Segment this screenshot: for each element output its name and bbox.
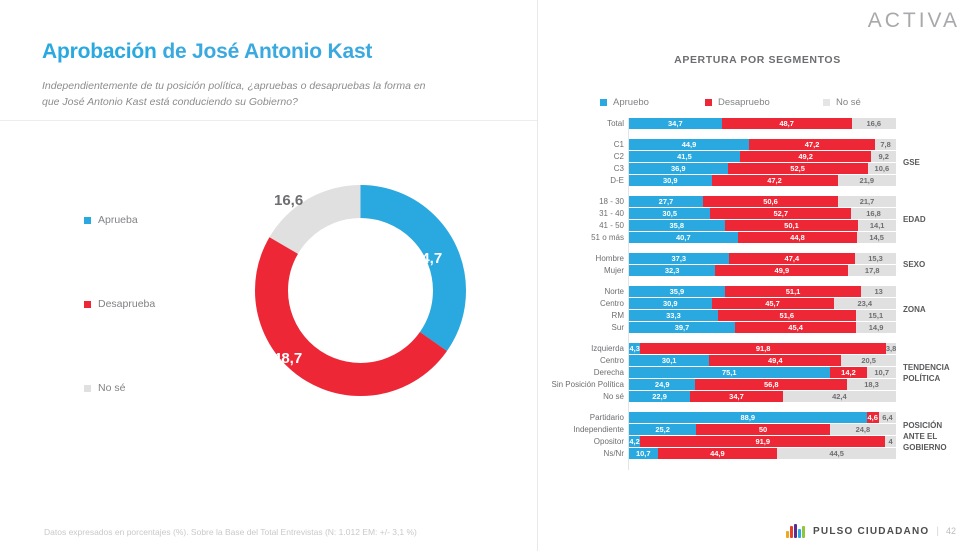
segment-bar-apruebo: 35,9 <box>629 286 725 297</box>
segment-row-label: D-E <box>474 175 624 186</box>
segment-bar-value: 4 <box>885 436 896 447</box>
legend-swatch-aprueba <box>84 217 91 224</box>
segment-row: D-E30,947,221,9 <box>537 175 978 186</box>
segment-bar-desapruebo: 44,8 <box>738 232 858 243</box>
segment-row: Centro30,945,723,4 <box>537 298 978 309</box>
segment-bar-value: 14,5 <box>857 232 896 243</box>
segment-bar-desapruebo: 49,2 <box>740 151 871 162</box>
segment-bar-value: 91,8 <box>640 343 885 354</box>
segment-bar-value: 36,9 <box>629 163 728 174</box>
segment-bar-track: 33,351,615,1 <box>629 310 896 321</box>
donut-value-desaprueba: 48,7 <box>273 350 302 367</box>
segment-bar-value: 50,1 <box>725 220 859 231</box>
segment-row: No sé22,934,742,4 <box>537 391 978 402</box>
segment-bar-value: 24,8 <box>830 424 896 435</box>
segment-bar-apruebo: 30,9 <box>629 298 712 309</box>
segment-row-label: Mujer <box>474 265 624 276</box>
segment-bar-nose: 42,4 <box>783 391 896 402</box>
segment-bar-value: 35,8 <box>629 220 725 231</box>
segment-bar-nose: 14,9 <box>856 322 896 333</box>
legend-item-desapruebo: Desapruebo <box>705 97 823 108</box>
segment-row-label: Hombre <box>474 253 624 264</box>
segment-bar-track: 27,750,621,7 <box>629 196 896 207</box>
segment-bar-track: 30,552,716,8 <box>629 208 896 219</box>
segment-bar-value: 47,2 <box>712 175 838 186</box>
segment-bar-apruebo: 24,9 <box>629 379 695 390</box>
segment-bar-nose: 10,6 <box>868 163 896 174</box>
segment-bar-track: 41,549,29,2 <box>629 151 896 162</box>
segment-bar-value: 6,4 <box>879 412 896 423</box>
segment-bar-track: 37,347,415,3 <box>629 253 896 264</box>
segment-bar-desapruebo: 51,1 <box>725 286 861 297</box>
legend-swatch-apruebo <box>600 99 607 106</box>
segment-bar-nose: 15,3 <box>855 253 896 264</box>
segment-bar-track: 24,956,818,3 <box>629 379 896 390</box>
segment-bar-value: 52,5 <box>728 163 868 174</box>
segment-row: 18 - 3027,750,621,7EDAD <box>537 196 978 207</box>
segment-bar-value: 39,7 <box>629 322 735 333</box>
segment-bar-nose: 24,8 <box>830 424 896 435</box>
segment-bar-track: 10,744,944,5 <box>629 448 896 459</box>
segment-bar-value: 35,9 <box>629 286 725 297</box>
segments-title: APERTURA POR SEGMENTOS <box>537 54 978 66</box>
segment-bar-value: 44,9 <box>629 139 749 150</box>
segment-bar-desapruebo: 45,4 <box>735 322 856 333</box>
segment-row-label: Independiente <box>474 424 624 435</box>
segment-bar-desapruebo: 50,6 <box>703 196 838 207</box>
segment-bar-value: 49,4 <box>709 355 841 366</box>
segment-row-label: C1 <box>474 139 624 150</box>
segment-bar-value: 4,6 <box>867 412 879 423</box>
segment-bar-desapruebo: 56,8 <box>695 379 847 390</box>
pulso-name: PULSO CIUDADANO <box>813 526 929 537</box>
segment-bar-value: 30,1 <box>629 355 709 366</box>
segment-bar-desapruebo: 45,7 <box>712 298 834 309</box>
segment-bar-apruebo: 30,5 <box>629 208 710 219</box>
segment-bar-apruebo: 30,9 <box>629 175 712 186</box>
segment-bar-desapruebo: 47,2 <box>749 139 875 150</box>
segment-row-label: Centro <box>474 298 624 309</box>
segment-bar-apruebo: 40,7 <box>629 232 738 243</box>
page-subtitle: Independientemente de tu posición políti… <box>42 78 432 111</box>
segment-bar-value: 13 <box>861 286 896 297</box>
segment-bar-apruebo: 44,9 <box>629 139 749 150</box>
segment-bar-value: 9,2 <box>871 151 896 162</box>
segment-bar-track: 88,94,66,4 <box>629 412 896 423</box>
segment-row-label: No sé <box>474 391 624 402</box>
segment-bar-apruebo: 30,1 <box>629 355 709 366</box>
legend-label-desapruebo: Desapruebo <box>718 97 770 108</box>
segment-bar-nose: 17,8 <box>848 265 896 276</box>
segment-bar-desapruebo: 52,5 <box>728 163 868 174</box>
segment-bar-track: 30,149,420,5 <box>629 355 896 366</box>
segment-bar-value: 3,8 <box>886 343 896 354</box>
segment-bar-value: 56,8 <box>695 379 847 390</box>
segment-bar-value: 44,8 <box>738 232 858 243</box>
segment-bar-nose: 44,5 <box>777 448 896 459</box>
segment-bar-track: 4,291,94 <box>629 436 896 447</box>
segment-bar-track: 36,952,510,6 <box>629 163 896 174</box>
segment-bar-track: 4,391,83,8 <box>629 343 896 354</box>
segment-row: Sin Posición Política24,956,818,3 <box>537 379 978 390</box>
segment-row: Hombre37,347,415,3SEXO <box>537 253 978 264</box>
segment-bar-value: 47,4 <box>729 253 856 264</box>
pulso-separator: | <box>936 526 939 537</box>
legend-label-nose-right: No sé <box>836 97 861 108</box>
segment-bar-value: 37,3 <box>629 253 729 264</box>
segment-bar-nose: 14,5 <box>857 232 896 243</box>
legend-label-desaprueba: Desaprueba <box>98 298 155 310</box>
segment-bar-apruebo: 4,3 <box>629 343 640 354</box>
segment-bar-value: 52,7 <box>710 208 851 219</box>
segment-group: Hombre37,347,415,3SEXOMujer32,349,917,8 <box>537 253 978 276</box>
segment-bar-desapruebo: 52,7 <box>710 208 851 219</box>
segment-row: Independiente25,25024,8 <box>537 424 978 435</box>
page-title-part1: Aprobación <box>42 40 162 63</box>
segment-bar-value: 25,2 <box>629 424 696 435</box>
segment-bar-value: 7,8 <box>875 139 896 150</box>
segment-bar-apruebo: 32,3 <box>629 265 715 276</box>
segment-bar-value: 40,7 <box>629 232 738 243</box>
legend-item-desaprueba: Desaprueba <box>84 298 224 310</box>
segment-bar-apruebo: 75,1 <box>629 367 830 378</box>
segment-bar-value: 45,4 <box>735 322 856 333</box>
segment-row-label: Sin Posición Política <box>474 379 624 390</box>
segment-bar-value: 34,7 <box>629 118 722 129</box>
legend-swatch-desapruebo <box>705 99 712 106</box>
segment-bar-nose: 20,5 <box>841 355 896 366</box>
segment-bar-apruebo: 37,3 <box>629 253 729 264</box>
segment-bar-value: 48,7 <box>722 118 852 129</box>
legend-swatch-nose-right <box>823 99 830 106</box>
segment-row: 31 - 4030,552,716,8 <box>537 208 978 219</box>
segment-bar-track: 39,745,414,9 <box>629 322 896 333</box>
segment-bar-value: 10,6 <box>868 163 896 174</box>
segment-bar-value: 15,3 <box>855 253 896 264</box>
segment-bar-track: 32,349,917,8 <box>629 265 896 276</box>
segment-bar-track: 30,947,221,9 <box>629 175 896 186</box>
segment-row: Centro30,149,420,5 <box>537 355 978 366</box>
segment-bar-nose: 4 <box>885 436 896 447</box>
segments-legend: Apruebo Desapruebo No sé <box>600 97 900 108</box>
segment-bar-apruebo: 10,7 <box>629 448 658 459</box>
segment-group: Norte35,951,113ZONACentro30,945,723,4RM3… <box>537 286 978 333</box>
segment-row: Ns/Nr10,744,944,5 <box>537 448 978 459</box>
segment-bar-value: 75,1 <box>629 367 830 378</box>
segment-bar-value: 30,9 <box>629 298 712 309</box>
segment-row-label: 51 o más <box>474 232 624 243</box>
segment-bar-desapruebo: 14,2 <box>830 367 868 378</box>
footnote: Datos expresados en porcentajes (%). Sob… <box>44 527 417 537</box>
segment-bar-nose: 14,1 <box>858 220 896 231</box>
segment-bar-desapruebo: 34,7 <box>690 391 783 402</box>
segment-bar-track: 25,25024,8 <box>629 424 896 435</box>
legend-swatch-nose <box>84 385 91 392</box>
segment-bar-value: 14,9 <box>856 322 896 333</box>
donut-legend: Aprueba Desaprueba No sé <box>84 214 224 394</box>
segment-bar-track: 34,748,716,6 <box>629 118 896 129</box>
segment-row-label: 18 - 30 <box>474 196 624 207</box>
segment-row: RM33,351,615,1 <box>537 310 978 321</box>
segment-bar-desapruebo: 49,9 <box>715 265 848 276</box>
segment-bar-apruebo: 35,8 <box>629 220 725 231</box>
segment-bar-track: 44,947,27,8 <box>629 139 896 150</box>
segment-bar-desapruebo: 47,4 <box>729 253 856 264</box>
segment-row-label: RM <box>474 310 624 321</box>
segment-bar-value: 23,4 <box>834 298 896 309</box>
donut-chart: 16,6 34,7 48,7 <box>238 168 483 413</box>
segment-bar-desapruebo: 51,6 <box>718 310 856 321</box>
segment-bar-value: 21,9 <box>838 175 896 186</box>
segment-row-label: Izquierda <box>474 343 624 354</box>
segment-bar-value: 15,1 <box>856 310 896 321</box>
segment-bar-desapruebo: 91,8 <box>640 343 885 354</box>
segment-bar-value: 14,1 <box>858 220 896 231</box>
segment-bar-value: 16,6 <box>852 118 896 129</box>
segment-bar-track: 35,951,113 <box>629 286 896 297</box>
segment-bar-value: 14,2 <box>830 367 868 378</box>
segment-bar-value: 50,6 <box>703 196 838 207</box>
segment-bar-value: 22,9 <box>629 391 690 402</box>
pulso-bars-icon <box>786 524 806 538</box>
segment-bar-track: 40,744,814,5 <box>629 232 896 243</box>
segment-row-label: Sur <box>474 322 624 333</box>
segment-bar-track: 35,850,114,1 <box>629 220 896 231</box>
segment-row: Sur39,745,414,9 <box>537 322 978 333</box>
segment-bar-track: 75,114,210,7 <box>629 367 896 378</box>
donut-value-nose: 16,6 <box>274 192 303 209</box>
legend-item-nose: No sé <box>84 382 224 394</box>
segment-bar-value: 21,7 <box>838 196 896 207</box>
segment-bar-desapruebo: 4,6 <box>867 412 879 423</box>
segment-bar-value: 49,9 <box>715 265 848 276</box>
segment-group: Izquierda4,391,83,8TENDENCIAPOLÍTICACent… <box>537 343 978 402</box>
segment-row-label: Opositor <box>474 436 624 447</box>
segment-bar-value: 33,3 <box>629 310 718 321</box>
segment-bar-nose: 9,2 <box>871 151 896 162</box>
page-title: Aprobación de José Antonio Kast <box>42 40 372 64</box>
segment-bar-apruebo: 88,9 <box>629 412 867 423</box>
segment-row: Mujer32,349,917,8 <box>537 265 978 276</box>
segment-row: C241,549,29,2 <box>537 151 978 162</box>
segment-bar-desapruebo: 50,1 <box>725 220 859 231</box>
segment-bar-nose: 21,7 <box>838 196 896 207</box>
header-divider <box>0 120 537 121</box>
legend-label-aprueba: Aprueba <box>98 214 138 226</box>
slide-root: ACTIVA Aprobación de José Antonio Kast I… <box>0 0 978 551</box>
segment-bar-value: 45,7 <box>712 298 834 309</box>
segment-bar-value: 30,9 <box>629 175 712 186</box>
segment-bar-nose: 21,9 <box>838 175 896 186</box>
segment-bar-value: 47,2 <box>749 139 875 150</box>
segment-bar-apruebo: 41,5 <box>629 151 740 162</box>
segment-bar-apruebo: 36,9 <box>629 163 728 174</box>
page-title-part2: de José Antonio Kast <box>162 40 372 63</box>
segment-bar-value: 10,7 <box>867 367 896 378</box>
segment-row: C336,952,510,6 <box>537 163 978 174</box>
legend-label-nose: No sé <box>98 382 125 394</box>
segment-bar-desapruebo: 44,9 <box>658 448 778 459</box>
legend-item-nose-right: No sé <box>823 97 861 108</box>
segment-bar-value: 91,9 <box>640 436 885 447</box>
segment-bar-apruebo: 33,3 <box>629 310 718 321</box>
segment-bar-value: 24,9 <box>629 379 695 390</box>
segment-row-label: Ns/Nr <box>474 448 624 459</box>
legend-item-aprueba: Aprueba <box>84 214 224 226</box>
segment-groups: Total34,748,716,6C144,947,27,8GSEC241,54… <box>537 118 978 459</box>
segment-bar-value: 16,8 <box>851 208 896 219</box>
segment-bar-value: 10,7 <box>629 448 658 459</box>
segment-bar-apruebo: 34,7 <box>629 118 722 129</box>
segment-bar-apruebo: 27,7 <box>629 196 703 207</box>
segment-bar-desapruebo: 91,9 <box>640 436 885 447</box>
segment-row-label: Centro <box>474 355 624 366</box>
segment-bar-value: 27,7 <box>629 196 703 207</box>
segment-group: C144,947,27,8GSEC241,549,29,2C336,952,51… <box>537 139 978 186</box>
segment-bar-value: 49,2 <box>740 151 871 162</box>
segment-bar-value: 17,8 <box>848 265 896 276</box>
segment-bar-nose: 16,8 <box>851 208 896 219</box>
legend-label-apruebo: Apruebo <box>613 97 649 108</box>
segment-bar-apruebo: 25,2 <box>629 424 696 435</box>
segment-bar-nose: 16,6 <box>852 118 896 129</box>
segment-row: Opositor4,291,94 <box>537 436 978 447</box>
segment-row: Norte35,951,113ZONA <box>537 286 978 297</box>
segment-bar-nose: 15,1 <box>856 310 896 321</box>
segment-bar-nose: 7,8 <box>875 139 896 150</box>
segment-bar-value: 30,5 <box>629 208 710 219</box>
segment-bar-value: 18,3 <box>847 379 896 390</box>
segment-bar-apruebo: 4,2 <box>629 436 640 447</box>
segment-row-label: C3 <box>474 163 624 174</box>
segment-bar-nose: 10,7 <box>867 367 896 378</box>
segment-row-label: 31 - 40 <box>474 208 624 219</box>
segment-group: Total34,748,716,6 <box>537 118 978 129</box>
segment-group: 18 - 3027,750,621,7EDAD31 - 4030,552,716… <box>537 196 978 243</box>
segment-bar-nose: 6,4 <box>879 412 896 423</box>
segments-chart: Total34,748,716,6C144,947,27,8GSEC241,54… <box>537 118 978 478</box>
segment-bar-apruebo: 22,9 <box>629 391 690 402</box>
segment-group: Partidario88,94,66,4POSICIÓNANTE ELGOBIE… <box>537 412 978 459</box>
segment-row-label: Derecha <box>474 367 624 378</box>
segment-bar-track: 30,945,723,4 <box>629 298 896 309</box>
activa-logo: ACTIVA <box>868 9 960 33</box>
pulso-ciudadano-logo: PULSO CIUDADANO | 42 <box>786 524 956 538</box>
segment-row-label: Partidario <box>474 412 624 423</box>
segment-bar-value: 44,5 <box>777 448 896 459</box>
segment-bar-value: 51,1 <box>725 286 861 297</box>
segment-bar-track: 22,934,742,4 <box>629 391 896 402</box>
segment-bar-value: 4,2 <box>629 436 640 447</box>
segment-bar-nose: 23,4 <box>834 298 896 309</box>
segment-bar-value: 41,5 <box>629 151 740 162</box>
segment-bar-desapruebo: 50 <box>696 424 830 435</box>
segment-bar-value: 4,3 <box>629 343 640 354</box>
legend-item-apruebo: Apruebo <box>600 97 705 108</box>
segment-row: Izquierda4,391,83,8TENDENCIAPOLÍTICA <box>537 343 978 354</box>
segment-bar-apruebo: 39,7 <box>629 322 735 333</box>
segment-row-label: Total <box>474 118 624 129</box>
segment-row: 51 o más40,744,814,5 <box>537 232 978 243</box>
segment-bar-desapruebo: 48,7 <box>722 118 852 129</box>
segment-bar-value: 20,5 <box>841 355 896 366</box>
segment-bar-value: 34,7 <box>690 391 783 402</box>
segment-row: 41 - 5035,850,114,1 <box>537 220 978 231</box>
segment-row: Derecha75,114,210,7 <box>537 367 978 378</box>
segment-bar-value: 50 <box>696 424 830 435</box>
segment-bar-desapruebo: 47,2 <box>712 175 838 186</box>
segment-bar-value: 32,3 <box>629 265 715 276</box>
segment-row: C144,947,27,8GSE <box>537 139 978 150</box>
page-number: 42 <box>946 526 956 536</box>
segment-bar-value: 44,9 <box>658 448 778 459</box>
segment-row-label: Norte <box>474 286 624 297</box>
segment-row: Total34,748,716,6 <box>537 118 978 129</box>
segment-bar-desapruebo: 49,4 <box>709 355 841 366</box>
segment-bar-value: 51,6 <box>718 310 856 321</box>
segment-bar-value: 42,4 <box>783 391 896 402</box>
segment-bar-nose: 3,8 <box>886 343 896 354</box>
segment-bar-nose: 18,3 <box>847 379 896 390</box>
segment-bar-nose: 13 <box>861 286 896 297</box>
donut-value-aprueba: 34,7 <box>413 250 442 267</box>
segment-row-label: 41 - 50 <box>474 220 624 231</box>
segment-row-label: C2 <box>474 151 624 162</box>
segment-row: Partidario88,94,66,4POSICIÓNANTE ELGOBIE… <box>537 412 978 423</box>
segment-bar-value: 88,9 <box>629 412 867 423</box>
legend-swatch-desaprueba <box>84 301 91 308</box>
